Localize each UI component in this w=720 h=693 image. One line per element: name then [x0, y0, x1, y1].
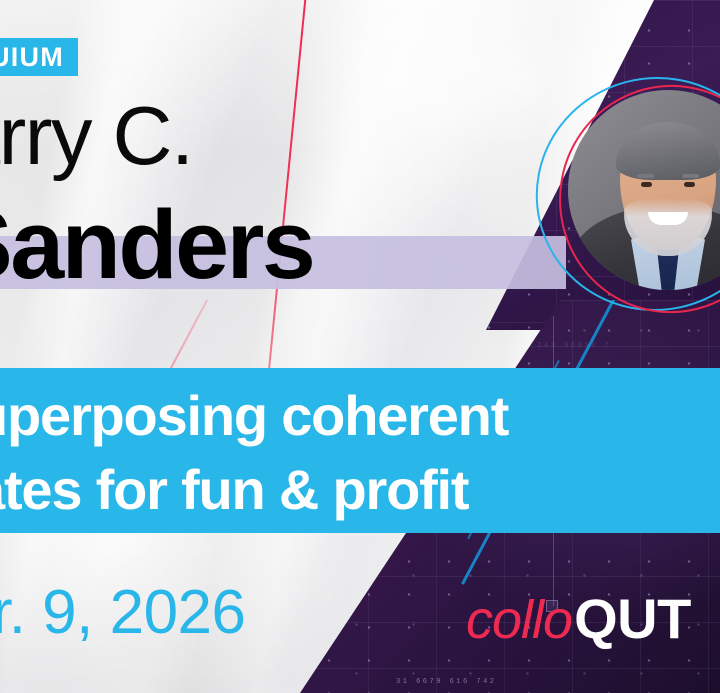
event-date: or. 9, 2026 [0, 582, 246, 644]
colloqut-logo: collo QUT [466, 586, 691, 651]
speaker-last-name: Sanders [0, 196, 313, 293]
colloquium-badge: LOQUIUM [0, 38, 78, 76]
panel-number-row-1: 31 6679 616 742 [396, 678, 497, 686]
logo-collo-text: collo [466, 589, 572, 651]
colloquium-banner: 43653 6862 11 6543563 243 66658 7 1103 1… [0, 0, 720, 693]
portrait-brow-left [637, 174, 654, 178]
portrait-eye-right [684, 182, 695, 187]
talk-title-band: uperposing coherent ates for fun & profi… [0, 368, 720, 533]
logo-qut-text: QUT [574, 586, 691, 651]
portrait-eye-left [641, 182, 652, 187]
speaker-first-name: arry C. [0, 94, 193, 177]
talk-title-line-2: ates for fun & profit [0, 453, 508, 527]
talk-title-line-1: uperposing coherent [0, 379, 508, 453]
talk-title-text: uperposing coherent ates for fun & profi… [0, 379, 508, 528]
speaker-portrait [556, 82, 720, 312]
portrait-hair [616, 122, 720, 180]
portrait-brow-right [682, 174, 699, 178]
